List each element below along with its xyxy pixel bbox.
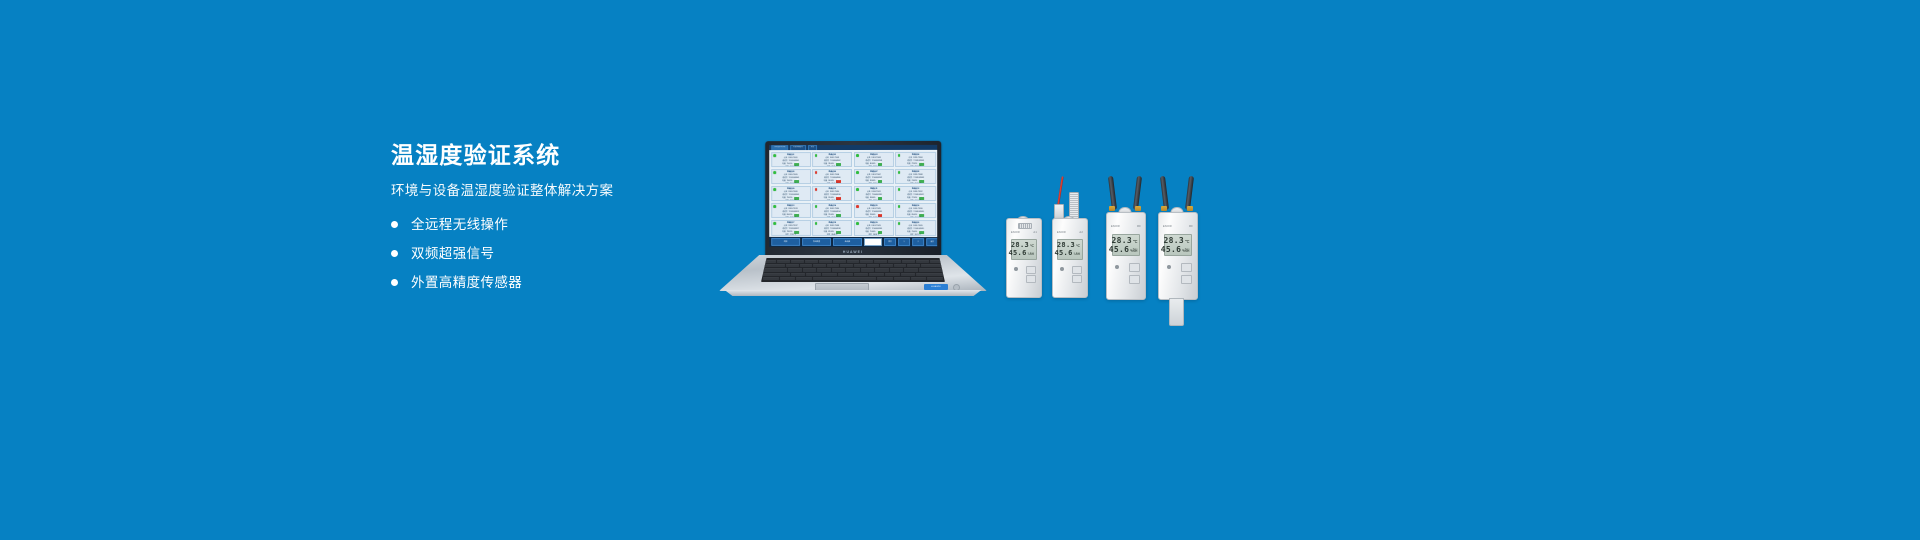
monitoring-card[interactable]: 监测点18设备DX01-T1018通道号TC001002018电量82.00%正… bbox=[812, 220, 852, 236]
key[interactable] bbox=[786, 264, 798, 267]
device-model-label: RF bbox=[1189, 225, 1193, 228]
key[interactable] bbox=[854, 273, 869, 276]
key[interactable] bbox=[919, 268, 943, 271]
page-subtitle: 环境与设备温湿度验证整体解决方案 bbox=[391, 182, 711, 200]
card-row-key: 温度 bbox=[868, 234, 871, 236]
keyboard[interactable] bbox=[761, 258, 945, 282]
trackpad[interactable] bbox=[815, 283, 869, 291]
monitoring-card-grid: 监测点01设备DX01-T1001通道号TC001002001电量75.00%正… bbox=[769, 150, 937, 237]
lcd-display: 28.3 ℃ 45.6 %RH bbox=[1011, 239, 1037, 259]
key[interactable] bbox=[813, 264, 825, 267]
keyboard-row bbox=[763, 264, 943, 267]
external-probe bbox=[1169, 298, 1184, 326]
card-row-value: 28.02 ℃ bbox=[915, 166, 921, 167]
key[interactable] bbox=[817, 268, 830, 271]
device-button[interactable] bbox=[1181, 263, 1192, 272]
monitoring-card[interactable]: 监测点01设备DX01-T1001通道号TC001002001电量75.00%正… bbox=[771, 152, 811, 168]
card-row-value: 28.44 ℃ bbox=[790, 183, 796, 184]
device-button[interactable] bbox=[1072, 275, 1082, 283]
device-body: ENOW RF 28.3 ℃ 45.6 %RH bbox=[1106, 212, 1146, 300]
temperature-value: 28.3 bbox=[1011, 241, 1029, 249]
device-brand-label: ENOW bbox=[1057, 231, 1066, 234]
card-row-value: 27.95 ℃ bbox=[873, 166, 879, 167]
feature-label: 全远程无线操作 bbox=[411, 216, 508, 233]
temperature-unit: ℃ bbox=[1030, 244, 1034, 248]
card-row-key: 温度 bbox=[868, 217, 871, 218]
key[interactable] bbox=[869, 273, 884, 276]
monitoring-card[interactable]: 监测点19设备DX01-T1019通道号TC001002019电量75.00%正… bbox=[854, 220, 894, 236]
key[interactable] bbox=[791, 260, 804, 263]
humidity-value: 45.6 bbox=[1161, 245, 1181, 254]
page-title: 温湿度验证系统 bbox=[391, 142, 711, 168]
sticker-label: HUAWEI bbox=[931, 286, 941, 288]
lcd-humidity-line: 45.6 %RH bbox=[1167, 245, 1190, 254]
key[interactable] bbox=[832, 268, 845, 271]
temperature-unit: ℃ bbox=[1133, 239, 1138, 244]
monitoring-card[interactable]: 监测点16设备DX01-T1016通道号TC001002016电量85.00%正… bbox=[895, 203, 935, 219]
key[interactable] bbox=[916, 273, 943, 276]
key[interactable] bbox=[803, 268, 816, 271]
card-row-value: 28.71 ℃ bbox=[915, 234, 921, 236]
key[interactable] bbox=[875, 268, 888, 271]
humidity-value: 45.6 bbox=[1055, 249, 1073, 257]
list-item: 全远程无线操作 bbox=[391, 216, 711, 233]
key[interactable] bbox=[904, 268, 917, 271]
status-dot-icon bbox=[773, 171, 776, 174]
device-group: ENOW A1 28.3 ℃ 45.6 %RH bbox=[1000, 170, 1200, 320]
status-dot-icon bbox=[815, 188, 818, 191]
card-row: 温度28.71 ℃ bbox=[896, 234, 934, 236]
card-row-value: 28.31 ℃ bbox=[831, 166, 837, 167]
card-row: 温度28.33 ℃ bbox=[813, 217, 851, 218]
key[interactable] bbox=[894, 277, 910, 280]
device-body: ENOW A2 28.3 ℃ 45.6 %RH bbox=[1052, 218, 1088, 298]
status-dot-icon bbox=[773, 205, 776, 208]
key[interactable] bbox=[800, 264, 812, 267]
monitoring-card[interactable]: 监测点12设备DX01-T1012通道号TC001002012电量77.00%正… bbox=[895, 186, 935, 202]
key[interactable] bbox=[907, 264, 919, 267]
card-row-key: 温度 bbox=[827, 234, 830, 236]
monitoring-card[interactable]: 监测点09设备DX01-T1009通道号TC001002009电量79.00%正… bbox=[771, 186, 811, 202]
card-row: 温度28.12 ℃ bbox=[896, 183, 934, 184]
card-row: 温度28.44 ℃ bbox=[772, 183, 810, 184]
monitoring-card[interactable]: 监测点17设备DX01-T1017通道号TC001002017电量78.00%正… bbox=[771, 220, 811, 236]
device-model-label: RF bbox=[1137, 225, 1141, 228]
temperature-value: 28.3 bbox=[1163, 236, 1183, 245]
card-row: 温度28.55 ℃ bbox=[772, 217, 810, 218]
power-fingerprint-button[interactable] bbox=[953, 284, 960, 291]
status-led-icon bbox=[1014, 267, 1018, 271]
key[interactable] bbox=[860, 260, 873, 263]
monitoring-card[interactable]: 监测点20设备DX01-T1020通道号TC001002020电量79.00%正… bbox=[895, 220, 935, 236]
app-toolbar: 刷新 导出数据 曲线图 首页 1 2 末页 设置 bbox=[769, 237, 937, 247]
antenna-base-right-icon bbox=[1187, 206, 1193, 211]
temperature-value: 28.3 bbox=[1057, 241, 1075, 249]
bullet-dot-icon bbox=[391, 250, 398, 257]
status-dot-icon bbox=[856, 188, 859, 191]
antenna-base-right-icon bbox=[1135, 206, 1141, 211]
key[interactable] bbox=[777, 260, 790, 263]
card-row: 温度28.21 ℃ bbox=[855, 200, 893, 201]
brand-label: HUAWEI bbox=[843, 250, 863, 254]
list-item: 双频超强信号 bbox=[391, 245, 711, 262]
hero-copy-block: 温湿度验证系统 环境与设备温湿度验证整体解决方案 全远程无线操作 双频超强信号 … bbox=[391, 142, 711, 291]
card-row-value: 28.66 ℃ bbox=[790, 166, 796, 167]
antenna-base-left-icon bbox=[1161, 206, 1167, 211]
key[interactable] bbox=[806, 273, 821, 276]
key[interactable] bbox=[780, 277, 796, 280]
card-row-key: 温度 bbox=[827, 200, 830, 201]
key[interactable] bbox=[885, 273, 900, 276]
card-row-key: 温度 bbox=[868, 200, 871, 201]
key[interactable] bbox=[894, 264, 906, 267]
card-row-key: 温度 bbox=[910, 234, 913, 236]
device-logger-a: ENOW A1 28.3 ℃ 45.6 %RH bbox=[1006, 220, 1040, 298]
probe-cable bbox=[1057, 176, 1064, 206]
status-dot-icon bbox=[856, 154, 859, 157]
card-row: 温度28.66 ℃ bbox=[772, 166, 810, 168]
lcd-display: 28.3 ℃ 45.6 %RH bbox=[1057, 239, 1083, 259]
pager-first[interactable]: 首页 bbox=[884, 238, 896, 246]
key[interactable] bbox=[791, 273, 806, 276]
feature-label: 双频超强信号 bbox=[411, 245, 494, 262]
bullet-dot-icon bbox=[391, 279, 398, 286]
card-row-value: 28.21 ℃ bbox=[873, 200, 879, 201]
lcd-temperature-line: 28.3 ℃ bbox=[1014, 241, 1034, 249]
monitoring-card[interactable]: 监测点11设备DX01-T1011通道号TC001002011电量83.00%正… bbox=[854, 186, 894, 202]
device-logger-c: ENOW RF 28.3 ℃ 45.6 %RH bbox=[1106, 206, 1144, 298]
refresh-button[interactable]: 刷新 bbox=[771, 238, 800, 246]
lcd-display: 28.3 ℃ 45.6 %RH bbox=[1112, 234, 1141, 256]
card-row-key: 温度 bbox=[910, 183, 913, 184]
lcd-humidity-line: 45.6 %RH bbox=[1014, 249, 1034, 257]
key[interactable] bbox=[911, 277, 927, 280]
device-logger-b: ENOW A2 28.3 ℃ 45.6 %RH bbox=[1052, 220, 1086, 298]
key[interactable] bbox=[840, 264, 852, 267]
vent-icon bbox=[1018, 223, 1032, 229]
key[interactable] bbox=[874, 260, 887, 263]
card-row-value: 27.92 ℃ bbox=[790, 234, 796, 236]
status-dot-icon bbox=[856, 171, 859, 174]
card-row-key: 温度 bbox=[785, 166, 788, 167]
status-dot-icon bbox=[856, 205, 859, 208]
laptop-lid: 温湿度验证系统 历史数据查询 报警 监测点01设备DX01-T1001通道号TC… bbox=[765, 141, 941, 257]
device-button[interactable] bbox=[1181, 275, 1192, 284]
key[interactable] bbox=[847, 260, 860, 263]
key[interactable] bbox=[867, 264, 879, 267]
status-led-icon bbox=[1115, 265, 1119, 269]
key[interactable] bbox=[827, 264, 839, 267]
status-dot-icon bbox=[815, 154, 818, 157]
key[interactable] bbox=[763, 264, 785, 267]
device-button[interactable] bbox=[1072, 266, 1082, 274]
device-brand-label: ENOW bbox=[1011, 231, 1020, 234]
feature-label: 外置高精度传感器 bbox=[411, 274, 522, 291]
status-dot-icon bbox=[815, 222, 818, 225]
status-dot-icon bbox=[773, 154, 776, 157]
key[interactable] bbox=[927, 277, 943, 280]
key[interactable] bbox=[861, 268, 874, 271]
key[interactable] bbox=[763, 277, 779, 280]
keyboard-row bbox=[763, 277, 943, 280]
laptop-screen: 温湿度验证系统 历史数据查询 报警 监测点01设备DX01-T1001通道号TC… bbox=[769, 145, 937, 247]
feature-list: 全远程无线操作 双频超强信号 外置高精度传感器 bbox=[391, 216, 711, 291]
lcd-temperature-line: 28.3 ℃ bbox=[1167, 236, 1190, 245]
card-row-value: 28.12 ℃ bbox=[915, 183, 921, 184]
monitoring-card[interactable]: 监测点13设备DX01-T1013通道号TC001002013电量80.00%正… bbox=[771, 203, 811, 219]
card-row-value: 28.18 ℃ bbox=[873, 234, 879, 236]
spacebar-key[interactable] bbox=[813, 277, 876, 280]
device-button[interactable] bbox=[1129, 263, 1140, 272]
brand-sticker: HUAWEI bbox=[924, 284, 948, 290]
keyboard-row bbox=[763, 268, 943, 271]
chart-button[interactable]: 曲线图 bbox=[833, 238, 862, 246]
key[interactable] bbox=[788, 268, 801, 271]
key[interactable] bbox=[921, 264, 943, 267]
card-row: 温度28.07 ℃ bbox=[896, 217, 934, 218]
card-row: 温度32.05 ℃ bbox=[813, 200, 851, 201]
export-button[interactable]: 导出数据 bbox=[802, 238, 831, 246]
device-brand-label: ENOW bbox=[1111, 225, 1120, 228]
card-row-value: 30.88 ℃ bbox=[873, 217, 879, 218]
monitoring-card[interactable]: 监测点03设备DX01-T1003通道号TC001002003电量80.00%正… bbox=[854, 151, 894, 167]
key[interactable] bbox=[888, 260, 901, 263]
key[interactable] bbox=[763, 273, 790, 276]
card-row-value: 28.55 ℃ bbox=[790, 217, 796, 218]
monitoring-card[interactable]: 监测点15设备DX01-T1015通道号TC001002015电量28.00%报… bbox=[854, 203, 894, 219]
card-row-key: 温度 bbox=[785, 183, 788, 184]
card-row-key: 温度 bbox=[827, 217, 830, 218]
temperature-unit: ℃ bbox=[1076, 244, 1080, 248]
lcd-temperature-line: 28.3 ℃ bbox=[1060, 241, 1080, 249]
device-button[interactable] bbox=[1026, 266, 1036, 274]
card-row-key: 温度 bbox=[827, 183, 830, 184]
keyboard-row bbox=[763, 273, 943, 276]
monitoring-card[interactable]: 监测点07设备DX01-T1007通道号TC001002007电量81.00%正… bbox=[854, 169, 894, 185]
device-body: ENOW A1 28.3 ℃ 45.6 %RH bbox=[1006, 218, 1042, 298]
card-row-key: 温度 bbox=[785, 217, 788, 218]
card-row: 温度28.90 ℃ bbox=[772, 200, 810, 201]
status-dot-icon bbox=[773, 222, 776, 225]
monitoring-card[interactable]: 监测点02设备DX01-T1002通道号TC001002002电量78.00%正… bbox=[812, 152, 852, 168]
card-row: 温度28.31 ℃ bbox=[813, 166, 851, 168]
key[interactable] bbox=[822, 273, 837, 276]
monitoring-card[interactable]: 监测点14设备DX01-T1014通道号TC001002014电量73.00%正… bbox=[812, 203, 852, 219]
card-row-value: 27.64 ℃ bbox=[915, 200, 921, 201]
key[interactable] bbox=[916, 260, 929, 263]
card-row-key: 温度 bbox=[910, 166, 913, 167]
card-row: 温度28.18 ℃ bbox=[855, 234, 893, 236]
status-led-icon bbox=[1167, 265, 1171, 269]
card-row: 温度27.92 ℃ bbox=[772, 234, 810, 236]
status-dot-icon bbox=[856, 222, 859, 225]
key[interactable] bbox=[838, 273, 853, 276]
card-row-key: 温度 bbox=[868, 166, 871, 167]
pager-page-2[interactable]: 2 bbox=[912, 238, 924, 246]
keyboard-row bbox=[763, 260, 943, 263]
key[interactable] bbox=[763, 268, 787, 271]
key[interactable] bbox=[901, 273, 916, 276]
key[interactable] bbox=[880, 264, 892, 267]
antenna-base-left-icon bbox=[1109, 206, 1115, 211]
status-dot-icon bbox=[815, 205, 818, 208]
status-dot-icon bbox=[815, 171, 818, 174]
key[interactable] bbox=[846, 268, 859, 271]
list-item: 外置高精度传感器 bbox=[391, 274, 711, 291]
laptop-front-lip bbox=[722, 290, 984, 296]
status-dot-icon bbox=[773, 188, 776, 191]
card-row-key: 温度 bbox=[910, 200, 913, 201]
key[interactable] bbox=[819, 260, 832, 263]
card-row-key: 温度 bbox=[910, 217, 913, 218]
card-row-value: 28.07 ℃ bbox=[915, 217, 921, 218]
card-row: 温度28.02 ℃ bbox=[896, 166, 934, 168]
laptop-product-image: 温湿度验证系统 历史数据查询 报警 监测点01设备DX01-T1001通道号TC… bbox=[719, 141, 987, 299]
lcd-humidity-line: 45.6 %RH bbox=[1060, 249, 1080, 257]
lcd-temperature-line: 28.3 ℃ bbox=[1115, 236, 1138, 245]
monitoring-card[interactable]: 监测点04设备DX01-T1004通道号TC001002004电量72.00%正… bbox=[895, 151, 935, 167]
lcd-humidity-line: 45.6 %RH bbox=[1115, 245, 1138, 254]
banner-stage: 温湿度验证系统 环境与设备温湿度验证整体解决方案 全远程无线操作 双频超强信号 … bbox=[0, 0, 1920, 540]
device-body: ENOW RF 28.3 ℃ 45.6 %RH bbox=[1158, 212, 1198, 300]
card-row-value: 28.33 ℃ bbox=[831, 217, 837, 218]
humidity-unit: %RH bbox=[1130, 248, 1137, 253]
card-row: 温度28.48 ℃ bbox=[813, 234, 851, 236]
device-button[interactable] bbox=[1026, 275, 1036, 283]
card-row-value: 32.05 ℃ bbox=[831, 200, 837, 201]
card-row-value: 28.90 ℃ bbox=[790, 200, 796, 201]
humidity-value: 45.6 bbox=[1009, 249, 1027, 257]
device-model-label: A1 bbox=[1033, 231, 1037, 234]
monitoring-card[interactable]: 监测点10设备DX01-T1010通道号TC001002010电量25.00%报… bbox=[812, 186, 852, 202]
temperature-value: 28.3 bbox=[1111, 236, 1131, 245]
temperature-unit: ℃ bbox=[1185, 239, 1190, 244]
card-row-key: 温度 bbox=[868, 183, 871, 184]
device-button[interactable] bbox=[1129, 275, 1140, 284]
card-row: 温度27.64 ℃ bbox=[896, 200, 934, 201]
key[interactable] bbox=[854, 264, 866, 267]
card-row-key: 温度 bbox=[785, 234, 788, 236]
card-row: 温度31.20 ℃ bbox=[813, 183, 851, 184]
card-row-value: 27.80 ℃ bbox=[873, 183, 879, 184]
monitoring-card[interactable]: 监测点05设备DX01-T1005通道号TC001002005电量76.00%正… bbox=[771, 169, 811, 185]
key[interactable] bbox=[902, 260, 915, 263]
card-row-key: 温度 bbox=[785, 200, 788, 201]
device-brand-label: ENOW bbox=[1163, 225, 1172, 228]
lcd-display: 28.3 ℃ 45.6 %RH bbox=[1164, 234, 1193, 256]
key[interactable] bbox=[877, 277, 893, 280]
pager-page-1[interactable]: 1 bbox=[898, 238, 910, 246]
key[interactable] bbox=[890, 268, 903, 271]
card-row-value: 31.20 ℃ bbox=[831, 183, 837, 184]
device-model-label: A2 bbox=[1079, 231, 1083, 234]
card-row: 温度27.80 ℃ bbox=[855, 183, 893, 184]
key[interactable] bbox=[796, 277, 812, 280]
card-row: 温度27.95 ℃ bbox=[855, 166, 893, 168]
humidity-value: 45.6 bbox=[1109, 245, 1129, 254]
key[interactable] bbox=[805, 260, 818, 263]
monitoring-card[interactable]: 监测点06设备DX01-T1006通道号TC001002006电量30.00%报… bbox=[812, 169, 852, 185]
card-row-value: 28.48 ℃ bbox=[831, 234, 837, 236]
bullet-dot-icon bbox=[391, 221, 398, 228]
card-row-key: 温度 bbox=[827, 166, 830, 167]
laptop-base: HUAWEI bbox=[719, 255, 987, 299]
humidity-unit: %RH bbox=[1074, 252, 1080, 256]
humidity-unit: %RH bbox=[1182, 248, 1189, 253]
humidity-unit: %RH bbox=[1028, 252, 1034, 256]
monitoring-card[interactable]: 监测点08设备DX01-T1008通道号TC001002008电量74.00%正… bbox=[895, 169, 935, 185]
page-input[interactable] bbox=[864, 238, 882, 246]
key[interactable] bbox=[833, 260, 846, 263]
card-row: 温度30.88 ℃ bbox=[855, 217, 893, 218]
status-led-icon bbox=[1060, 267, 1064, 271]
device-logger-d: ENOW RF 28.3 ℃ 45.6 %RH bbox=[1158, 206, 1196, 298]
pager-last[interactable]: 末页 bbox=[926, 238, 937, 246]
